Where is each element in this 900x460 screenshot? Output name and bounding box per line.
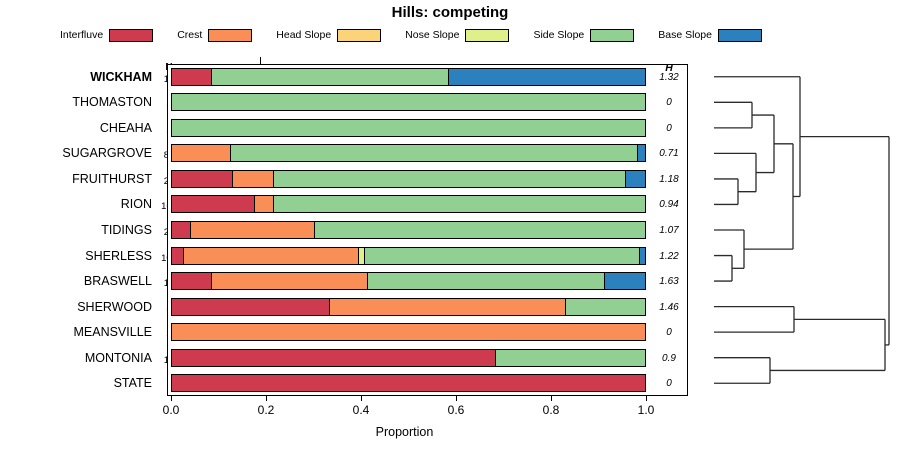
legend-swatch: [718, 29, 762, 42]
bar-segment-base-slope: [449, 69, 645, 85]
stacked-bar: [171, 349, 646, 367]
bar-segment-interfluve: [172, 222, 191, 238]
x-axis-tick-label: 0.2: [244, 403, 288, 417]
bar-segment-base-slope: [626, 171, 645, 187]
x-axis-tick-label: 0.8: [529, 403, 573, 417]
bar-row[interactable]: [171, 93, 646, 111]
category-labels: WICKHAMTHOMASTONCHEAHASUGARGROVEFRUITHUR…: [0, 64, 152, 396]
bar-segment-side-slope: [315, 222, 645, 238]
h-value: 0.9: [650, 352, 688, 365]
bar-segment-crest: [330, 299, 567, 315]
stacked-bar: [171, 221, 646, 239]
bar-segment-crest: [212, 273, 368, 289]
h-value: 1.32: [650, 71, 688, 84]
bar-row[interactable]: [171, 374, 646, 392]
bar-segment-crest: [184, 248, 359, 264]
chart-title: Hills: competing: [0, 4, 900, 21]
legend-item-label: Side Slope: [533, 29, 584, 41]
bar-segment-base-slope: [638, 145, 645, 161]
x-axis-tick: [361, 396, 362, 401]
bar-segment-side-slope: [566, 299, 645, 315]
h-value: 1.07: [650, 224, 688, 237]
category-label-braswell[interactable]: BRASWELL: [0, 273, 152, 289]
x-axis-tick: [646, 396, 647, 401]
category-label-sugargrove[interactable]: SUGARGROVE: [0, 145, 152, 161]
category-label-sherless[interactable]: SHERLESS: [0, 248, 152, 264]
legend-swatch: [590, 29, 634, 42]
category-label-montonia[interactable]: MONTONIA: [0, 350, 152, 366]
stacked-bar: [171, 93, 646, 111]
bar-segment-side-slope: [274, 171, 626, 187]
legend-item-label: Head Slope: [276, 29, 331, 41]
x-axis-tick: [171, 396, 172, 401]
h-value: 0: [650, 377, 688, 390]
bar-segment-interfluve: [172, 248, 184, 264]
bar-row[interactable]: [171, 68, 646, 86]
x-axis-tick-label: 0.4: [339, 403, 383, 417]
h-value: 0.71: [650, 147, 688, 160]
bar-row[interactable]: [171, 298, 646, 316]
legend-item-crest[interactable]: Crest: [177, 29, 252, 42]
panel-top-tick: [260, 57, 261, 64]
bar-segment-interfluve: [172, 375, 645, 391]
bar-row[interactable]: [171, 195, 646, 213]
legend-item-label: Base Slope: [658, 29, 712, 41]
stacked-bar: [171, 298, 646, 316]
bar-segment-crest: [255, 196, 274, 212]
bar-segment-side-slope: [496, 350, 645, 366]
stacked-bar: [171, 68, 646, 86]
bar-segment-crest: [172, 324, 645, 340]
bar-segment-interfluve: [172, 196, 255, 212]
bar-segment-base-slope: [605, 273, 645, 289]
bar-segment-side-slope: [172, 94, 645, 110]
bar-row[interactable]: [171, 221, 646, 239]
legend-item-interfluve[interactable]: Interfluve: [60, 29, 153, 42]
bar-segment-crest: [172, 145, 231, 161]
bar-row[interactable]: [171, 170, 646, 188]
x-axis-tick: [456, 396, 457, 401]
bar-row[interactable]: [171, 323, 646, 341]
legend-item-label: Crest: [177, 29, 202, 41]
category-label-meansville[interactable]: MEANSVILLE: [0, 324, 152, 340]
h-value: 1.46: [650, 301, 688, 314]
legend-item-nose-slope[interactable]: Nose Slope: [405, 29, 509, 42]
bar-segment-crest: [191, 222, 315, 238]
stacked-bar: [171, 170, 646, 188]
category-label-wickham[interactable]: WICKHAM: [0, 69, 152, 85]
bar-segment-side-slope: [274, 196, 645, 212]
stacked-bar: [171, 374, 646, 392]
bar-row[interactable]: [171, 144, 646, 162]
bar-segment-side-slope: [365, 248, 640, 264]
h-value: 0: [650, 96, 688, 109]
bar-row[interactable]: [171, 247, 646, 265]
legend-item-base-slope[interactable]: Base Slope: [658, 29, 762, 42]
bar-segment-interfluve: [172, 171, 233, 187]
category-label-sherwood[interactable]: SHERWOOD: [0, 299, 152, 315]
h-value: 0.94: [650, 198, 688, 211]
category-label-cheaha[interactable]: CHEAHA: [0, 120, 152, 136]
legend-swatch: [208, 29, 252, 42]
bar-segment-side-slope: [212, 69, 449, 85]
h-value: 1.22: [650, 250, 688, 263]
bar-segment-crest: [233, 171, 274, 187]
legend-swatch: [337, 29, 381, 42]
h-value: 1.63: [650, 275, 688, 288]
stacked-bar: [171, 195, 646, 213]
bar-segment-interfluve: [172, 69, 212, 85]
x-axis-tick: [266, 396, 267, 401]
x-axis-tick: [551, 396, 552, 401]
bar-segment-base-slope: [640, 248, 645, 264]
category-label-thomaston[interactable]: THOMASTON: [0, 94, 152, 110]
bar-segment-side-slope: [368, 273, 605, 289]
legend: InterfluveCrestHead SlopeNose SlopeSide …: [60, 26, 840, 44]
legend-item-head-slope[interactable]: Head Slope: [276, 29, 381, 42]
bar-row[interactable]: [171, 119, 646, 137]
stacked-bar: [171, 272, 646, 290]
legend-item-label: Interfluve: [60, 29, 103, 41]
legend-swatch: [465, 29, 509, 42]
legend-item-side-slope[interactable]: Side Slope: [533, 29, 634, 42]
legend-swatch: [109, 29, 153, 42]
stacked-bars: [171, 64, 646, 396]
h-column: H 1.32000.711.180.941.071.221.631.4600.9…: [650, 64, 688, 396]
x-axis-tick-label: 0.0: [149, 403, 193, 417]
stacked-bar: [171, 119, 646, 137]
stacked-bar: [171, 323, 646, 341]
bar-row[interactable]: [171, 349, 646, 367]
stacked-bar: [171, 247, 646, 265]
category-label-rion[interactable]: RION: [0, 196, 152, 212]
category-label-tidings[interactable]: TIDINGS: [0, 222, 152, 238]
bar-segment-interfluve: [172, 350, 496, 366]
h-value: 1.18: [650, 173, 688, 186]
h-value: 0: [650, 326, 688, 339]
bar-segment-side-slope: [172, 120, 645, 136]
dendrogram: [696, 64, 896, 396]
legend-item-label: Nose Slope: [405, 29, 459, 41]
h-value: 0: [650, 122, 688, 135]
stacked-bar: [171, 144, 646, 162]
x-axis-title: Proportion: [167, 425, 642, 439]
x-axis-tick-label: 0.6: [434, 403, 478, 417]
bar-row[interactable]: [171, 272, 646, 290]
bar-segment-interfluve: [172, 273, 212, 289]
category-label-fruithurst[interactable]: FRUITHURST: [0, 171, 152, 187]
x-axis-tick-label: 1.0: [624, 403, 668, 417]
category-label-state[interactable]: STATE: [0, 375, 152, 391]
dendrogram-svg: [696, 64, 896, 396]
bar-segment-interfluve: [172, 299, 330, 315]
bar-segment-side-slope: [231, 145, 638, 161]
